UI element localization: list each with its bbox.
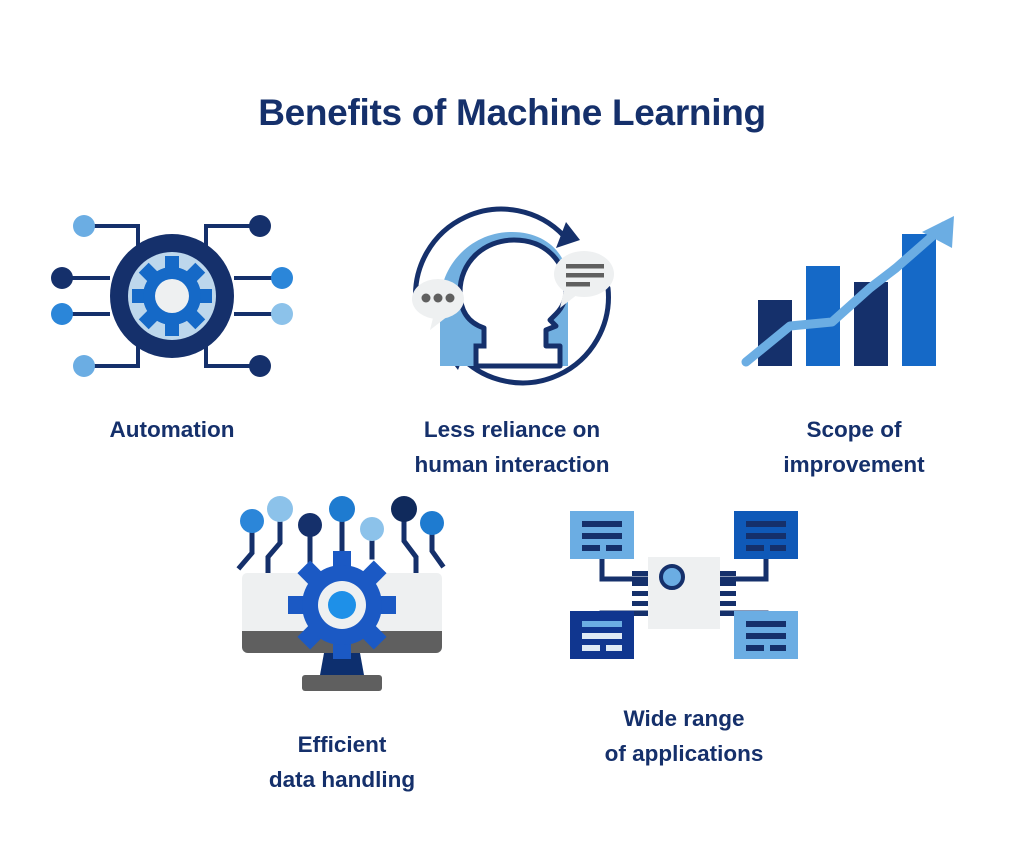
gear-network-icon <box>48 196 296 396</box>
benefit-label-efficient: Efficient data handling <box>269 727 415 797</box>
benefit-label-wide: Wide range of applications <box>605 701 764 771</box>
benefit-card-scope: Scope of improvement <box>730 196 978 482</box>
benefit-label-automation: Automation <box>110 412 235 447</box>
node-card-top-right <box>734 511 798 559</box>
human-heads-cycle-icon <box>388 196 636 396</box>
benefit-label-scope: Scope of improvement <box>783 412 924 482</box>
benefit-card-wide: Wide range of applications <box>560 495 808 771</box>
benefit-card-reliance: Less reliance on human interaction <box>388 196 636 482</box>
page-title: Benefits of Machine Learning <box>0 92 1024 134</box>
benefit-card-efficient: Efficient data handling <box>218 495 466 797</box>
node-card-bottom-left <box>570 611 634 659</box>
node-card-top-left <box>570 511 634 559</box>
infographic-page: Benefits of Machine Learning <box>0 0 1024 863</box>
monitor-gear-icon <box>218 495 466 705</box>
benefit-label-reliance: Less reliance on human interaction <box>414 412 609 482</box>
speech-bubble-lines-icon <box>554 251 614 308</box>
growth-bar-chart-icon <box>730 196 978 396</box>
benefit-card-automation: Automation <box>48 196 296 447</box>
chip-network-icon <box>560 495 808 675</box>
node-card-bottom-right <box>734 611 798 659</box>
